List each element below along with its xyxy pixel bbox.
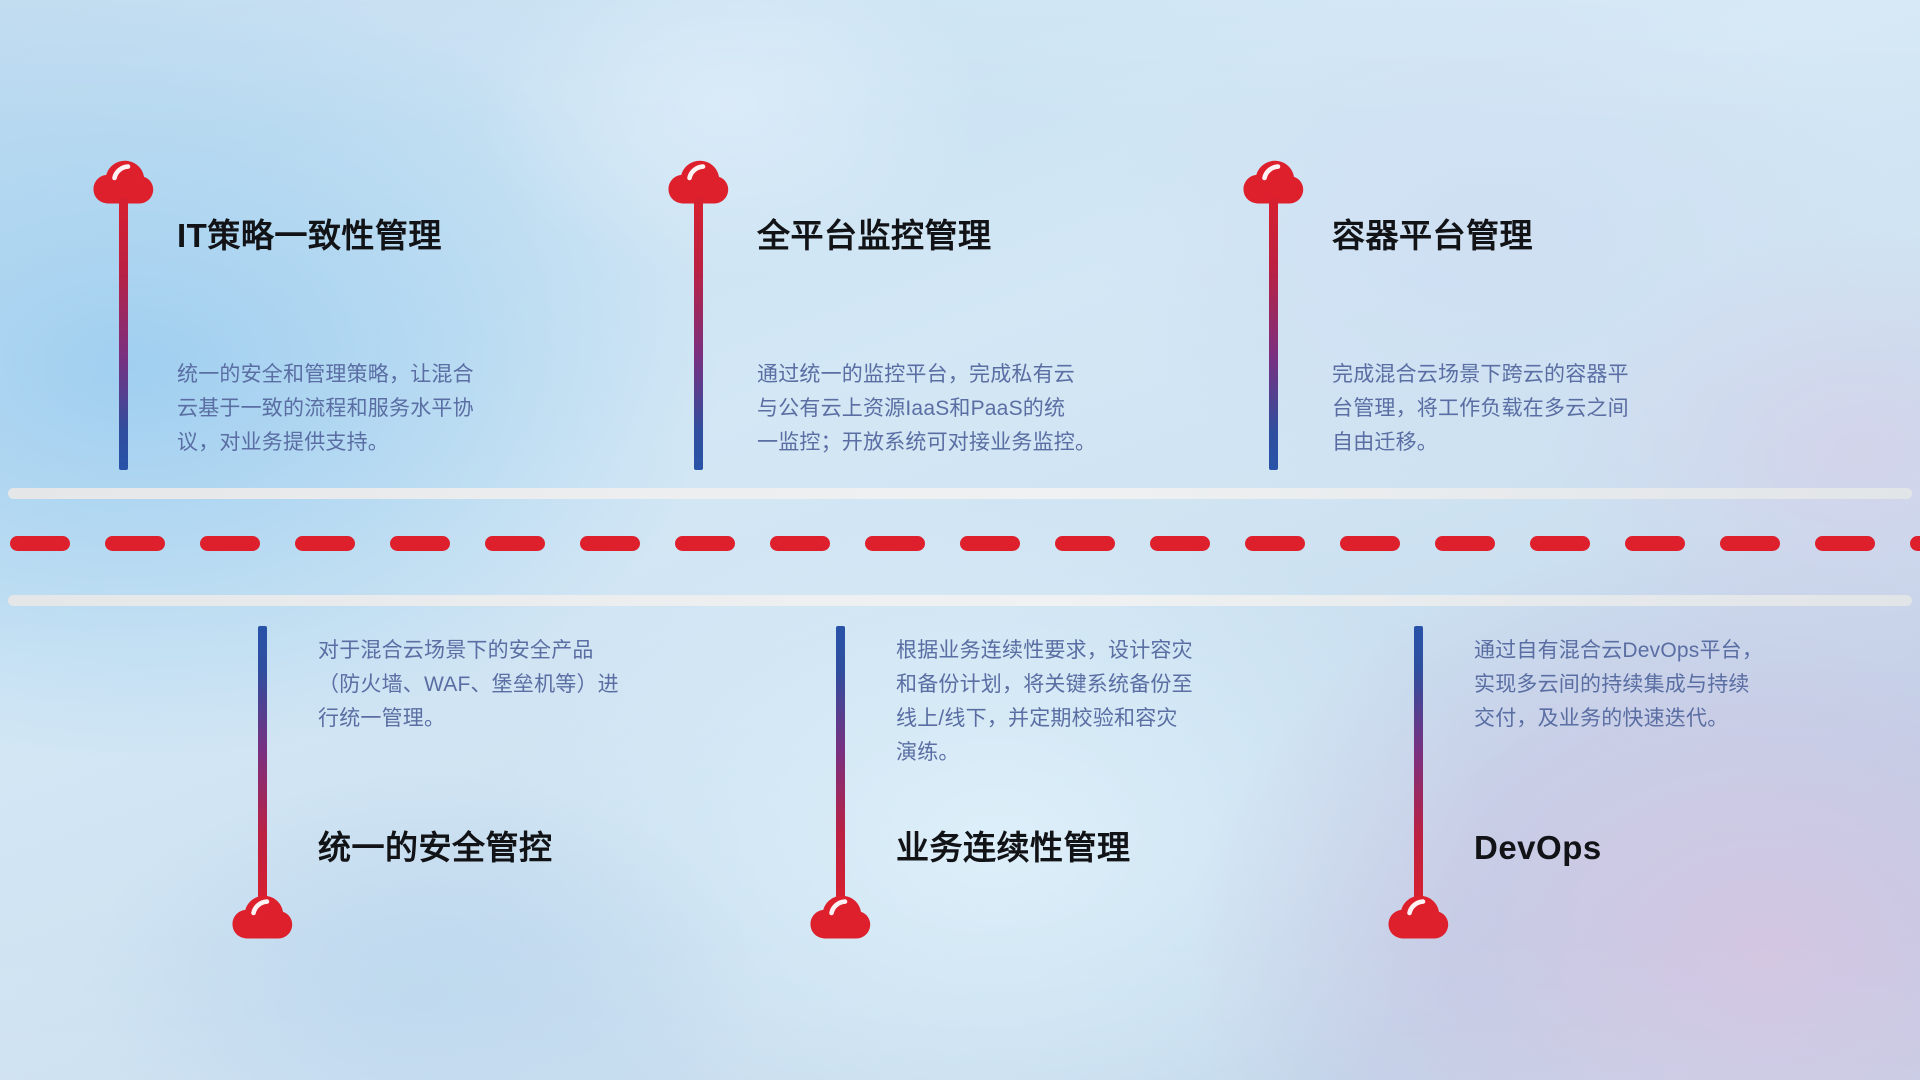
road-dash (390, 536, 450, 551)
road-divider (0, 488, 1920, 608)
item-body: 统一的安全和管理策略，让混合 云基于一致的流程和服务水平协 议，对业务提供支持。 (177, 358, 607, 460)
cloud-icon (231, 895, 293, 941)
item-body: 通过统一的监控平台，完成私有云 与公有云上资源IaaS和PaaS的统 一监控；开… (757, 358, 1197, 460)
road-band-top (8, 488, 1912, 499)
road-dash (1815, 536, 1875, 551)
road-dash (865, 536, 925, 551)
item-title: DevOps (1474, 830, 1602, 866)
stem-connector (694, 198, 703, 470)
road-dash (770, 536, 830, 551)
road-dashed-centerline (0, 536, 1920, 551)
road-dash (580, 536, 640, 551)
item-body: 通过自有混合云DevOps平台， 实现多云间的持续集成与持续 交付，及业务的快速… (1474, 634, 1894, 736)
item-body: 根据业务连续性要求，设计容灾 和备份计划，将关键系统备份至 线上/线下，并定期校… (896, 634, 1336, 770)
stem-connector (119, 198, 128, 470)
road-dash (105, 536, 165, 551)
stem-connector (258, 626, 267, 900)
road-dash (1720, 536, 1780, 551)
stem-connector (1269, 198, 1278, 470)
road-dash (1530, 536, 1590, 551)
road-dash (200, 536, 260, 551)
road-dash (1435, 536, 1495, 551)
item-body: 完成混合云场景下跨云的容器平 台管理，将工作负载在多云之间 自由迁移。 (1332, 358, 1772, 460)
road-dash (675, 536, 735, 551)
road-dash (960, 536, 1020, 551)
road-dash (10, 536, 70, 551)
item-body: 对于混合云场景下的安全产品 （防火墙、WAF、堡垒机等）进 行统一管理。 (318, 634, 748, 736)
road-dash (295, 536, 355, 551)
cloud-icon (1387, 895, 1449, 941)
road-dash (1625, 536, 1685, 551)
cloud-icon (809, 895, 871, 941)
item-title: 统一的安全管控 (318, 830, 553, 866)
road-dash (1910, 536, 1920, 551)
road-dash (1245, 536, 1305, 551)
road-dash (1055, 536, 1115, 551)
road-band-bottom (8, 595, 1912, 606)
road-dash (485, 536, 545, 551)
item-title: IT策略一致性管理 (177, 218, 442, 254)
stem-connector (1414, 626, 1423, 900)
road-dash (1150, 536, 1210, 551)
item-title: 容器平台管理 (1332, 218, 1533, 254)
stem-connector (836, 626, 845, 900)
road-dash (1340, 536, 1400, 551)
item-title: 全平台监控管理 (757, 218, 992, 254)
item-title: 业务连续性管理 (896, 830, 1131, 866)
